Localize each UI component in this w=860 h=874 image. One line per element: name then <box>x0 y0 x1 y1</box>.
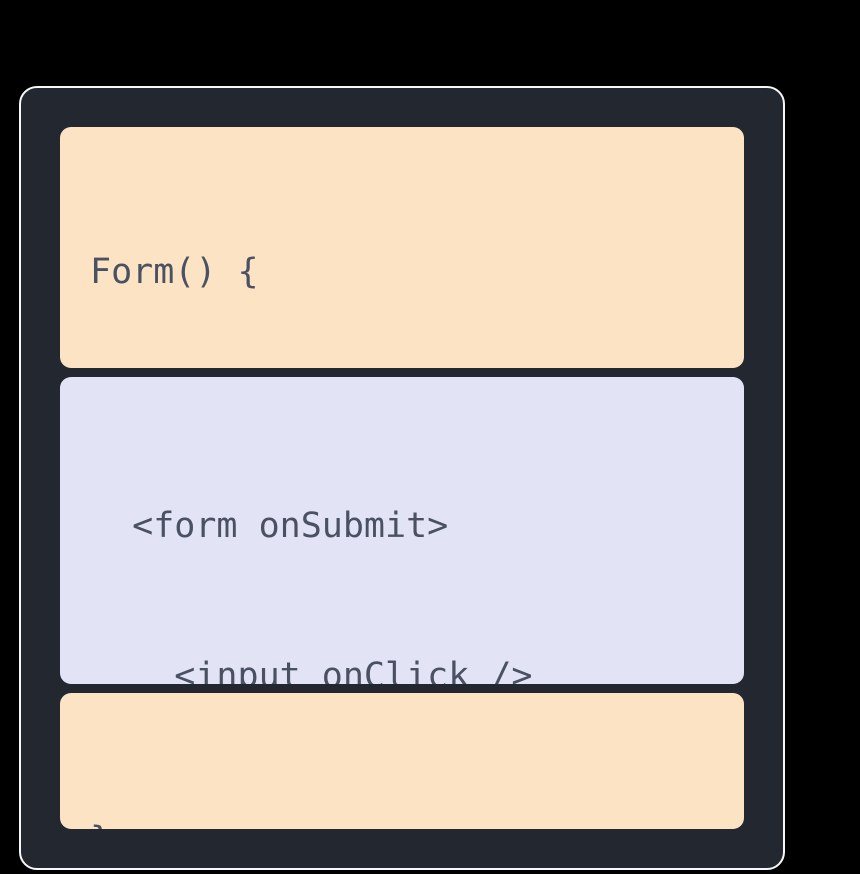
code-block-component-head: Form() { onClick() {...} onSubmit() {...… <box>60 127 744 368</box>
code-window: Form() { onClick() {...} onSubmit() {...… <box>19 86 785 870</box>
code-line: } <box>90 815 714 829</box>
code-line: <form onSubmit> <box>90 501 714 551</box>
code-block-component-tail: } <box>60 693 744 829</box>
code-line: Form() { <box>90 247 714 297</box>
code-line: <input onClick /> <box>90 651 714 683</box>
code-block-jsx-markup: <form onSubmit> <input onClick /> <input… <box>60 377 744 684</box>
code-illustration-root: Form() { onClick() {...} onSubmit() {...… <box>0 0 860 874</box>
